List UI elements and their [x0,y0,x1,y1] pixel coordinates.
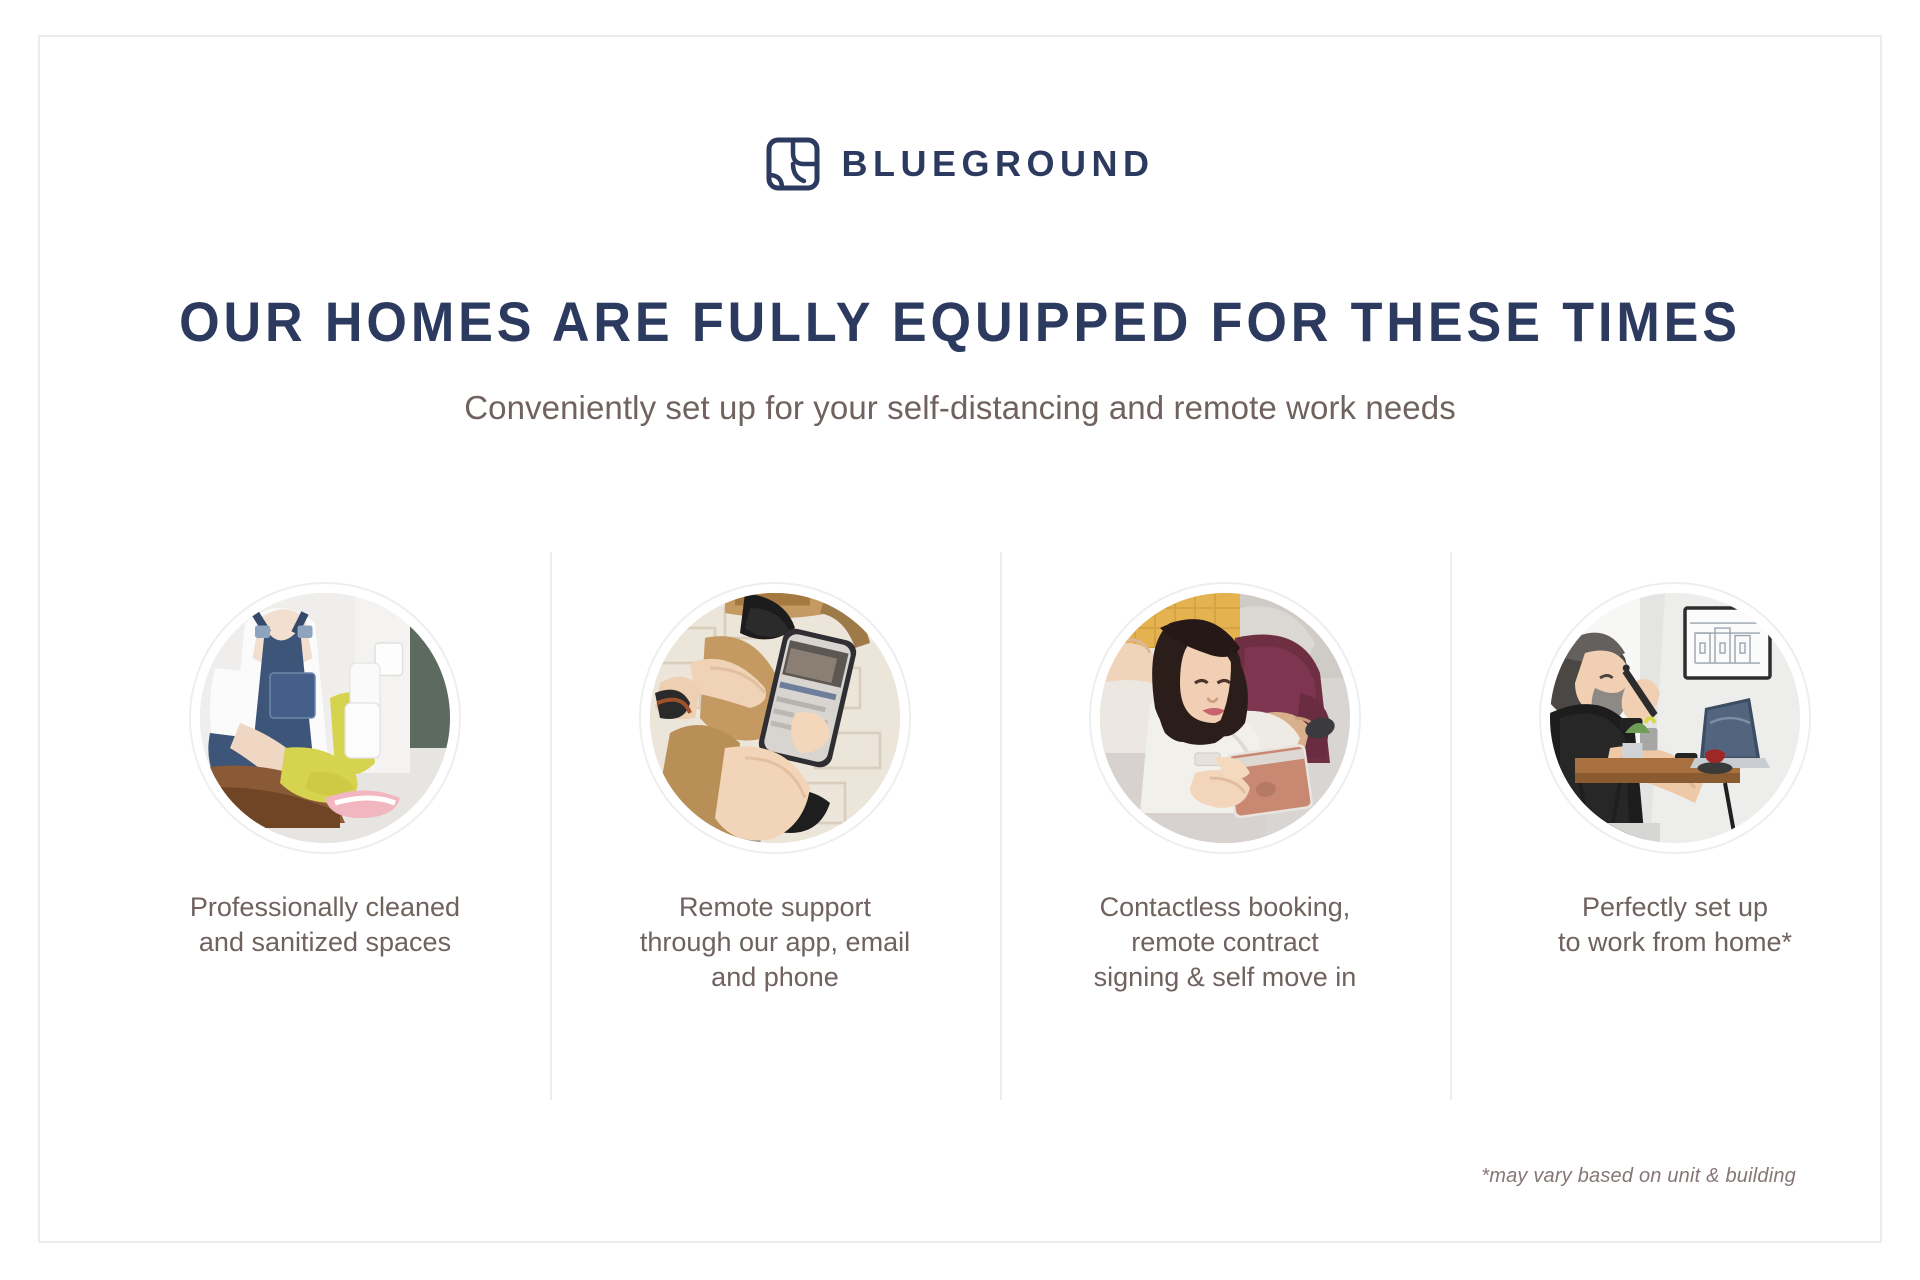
feature-caption: Professionally cleaned and sanitized spa… [190,890,460,960]
man-working-at-desk-photo [1550,593,1800,843]
feature-columns: Professionally cleaned and sanitized spa… [100,552,1900,1100]
woman-on-bed-with-tablet-photo [1100,593,1350,843]
feature-image-ring [1539,582,1811,854]
feature-image-ring [639,582,911,854]
feature-image-ring [1089,582,1361,854]
cleaner-with-gloves-photo [200,593,450,843]
feature-column-contactless-booking: Contactless booking, remote contract sig… [1000,552,1450,1100]
page-title: Our homes are fully equipped for these t… [104,289,1815,354]
brand-name: BLUEGROUND [842,146,1155,182]
blueground-square-logo-icon [766,137,820,191]
hands-holding-phone-photo [650,593,900,843]
feature-column-work-from-home: Perfectly set up to work from home* [1450,552,1900,1100]
feature-image-ring [189,582,461,854]
feature-caption: Remote support through our app, email an… [640,890,910,995]
feature-column-cleaning: Professionally cleaned and sanitized spa… [100,552,550,1100]
footnote: *may vary based on unit & building [1481,1165,1796,1188]
feature-caption: Contactless booking, remote contract sig… [1094,890,1357,995]
page-subtitle: Conveniently set up for your self-distan… [40,389,1880,427]
brand-logo: BLUEGROUND [40,137,1880,191]
feature-caption: Perfectly set up to work from home* [1558,890,1792,960]
feature-column-remote-support: Remote support through our app, email an… [550,552,1000,1100]
page-frame: BLUEGROUND Our homes are fully equipped … [38,35,1882,1243]
